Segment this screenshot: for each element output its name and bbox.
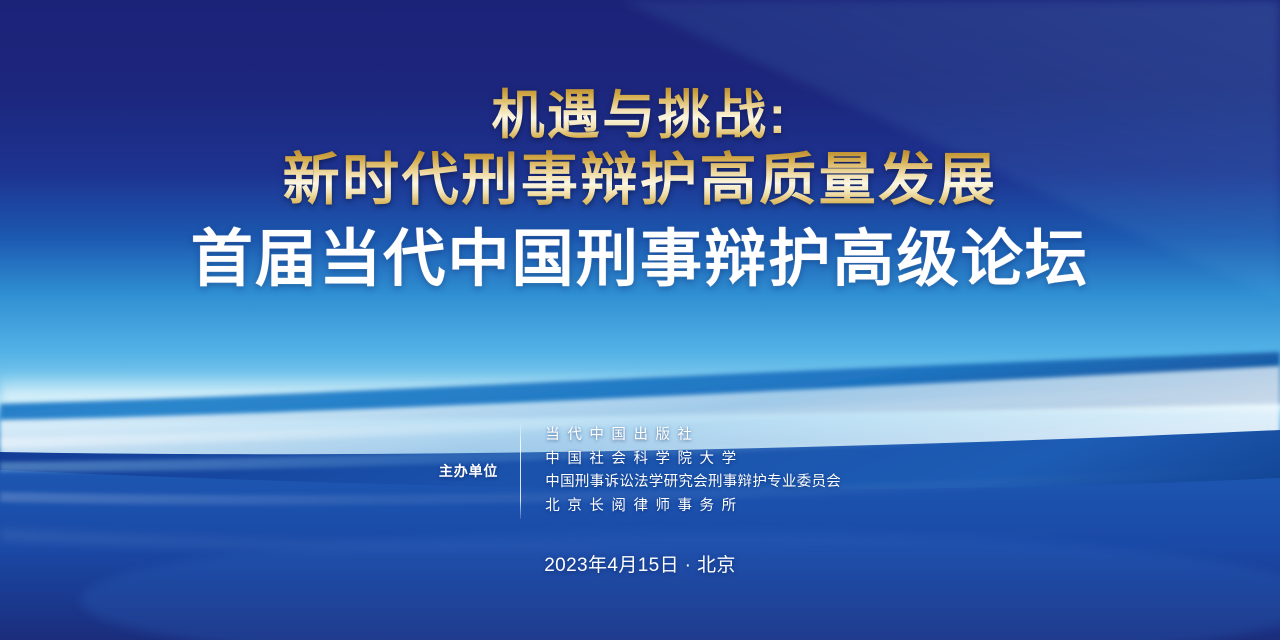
headline-gold-line-1: 机遇与挑战:: [0, 86, 1280, 145]
organizer-item: 北京长阅律师事务所: [545, 495, 841, 519]
date-location-text: 2023年4月15日 · 北京: [0, 550, 1280, 577]
headline-gold-line-2: 新时代刑事辩护高质量发展: [0, 149, 1280, 213]
organizers-label: 主办单位: [439, 461, 520, 481]
organizers-block: 主办单位 当代中国出版社 中国社会科学院大学 中国刑事诉讼法学研究会刑事辩护专业…: [0, 424, 1280, 519]
page-title: 首届当代中国刑事辩护高级论坛: [0, 225, 1280, 296]
organizers-list: 当代中国出版社 中国社会科学院大学 中国刑事诉讼法学研究会刑事辩护专业委员会 北…: [521, 424, 841, 519]
organizer-item: 当代中国出版社: [545, 424, 841, 448]
organizer-item: 中国社会科学院大学: [545, 448, 841, 472]
organizer-item: 中国刑事诉讼法学研究会刑事辩护专业委员会: [545, 471, 841, 495]
poster-canvas: 机遇与挑战: 新时代刑事辩护高质量发展 首届当代中国刑事辩护高级论坛 主办单位 …: [0, 0, 1280, 640]
poster-title-block: 机遇与挑战: 新时代刑事辩护高质量发展 首届当代中国刑事辩护高级论坛: [0, 86, 1280, 296]
